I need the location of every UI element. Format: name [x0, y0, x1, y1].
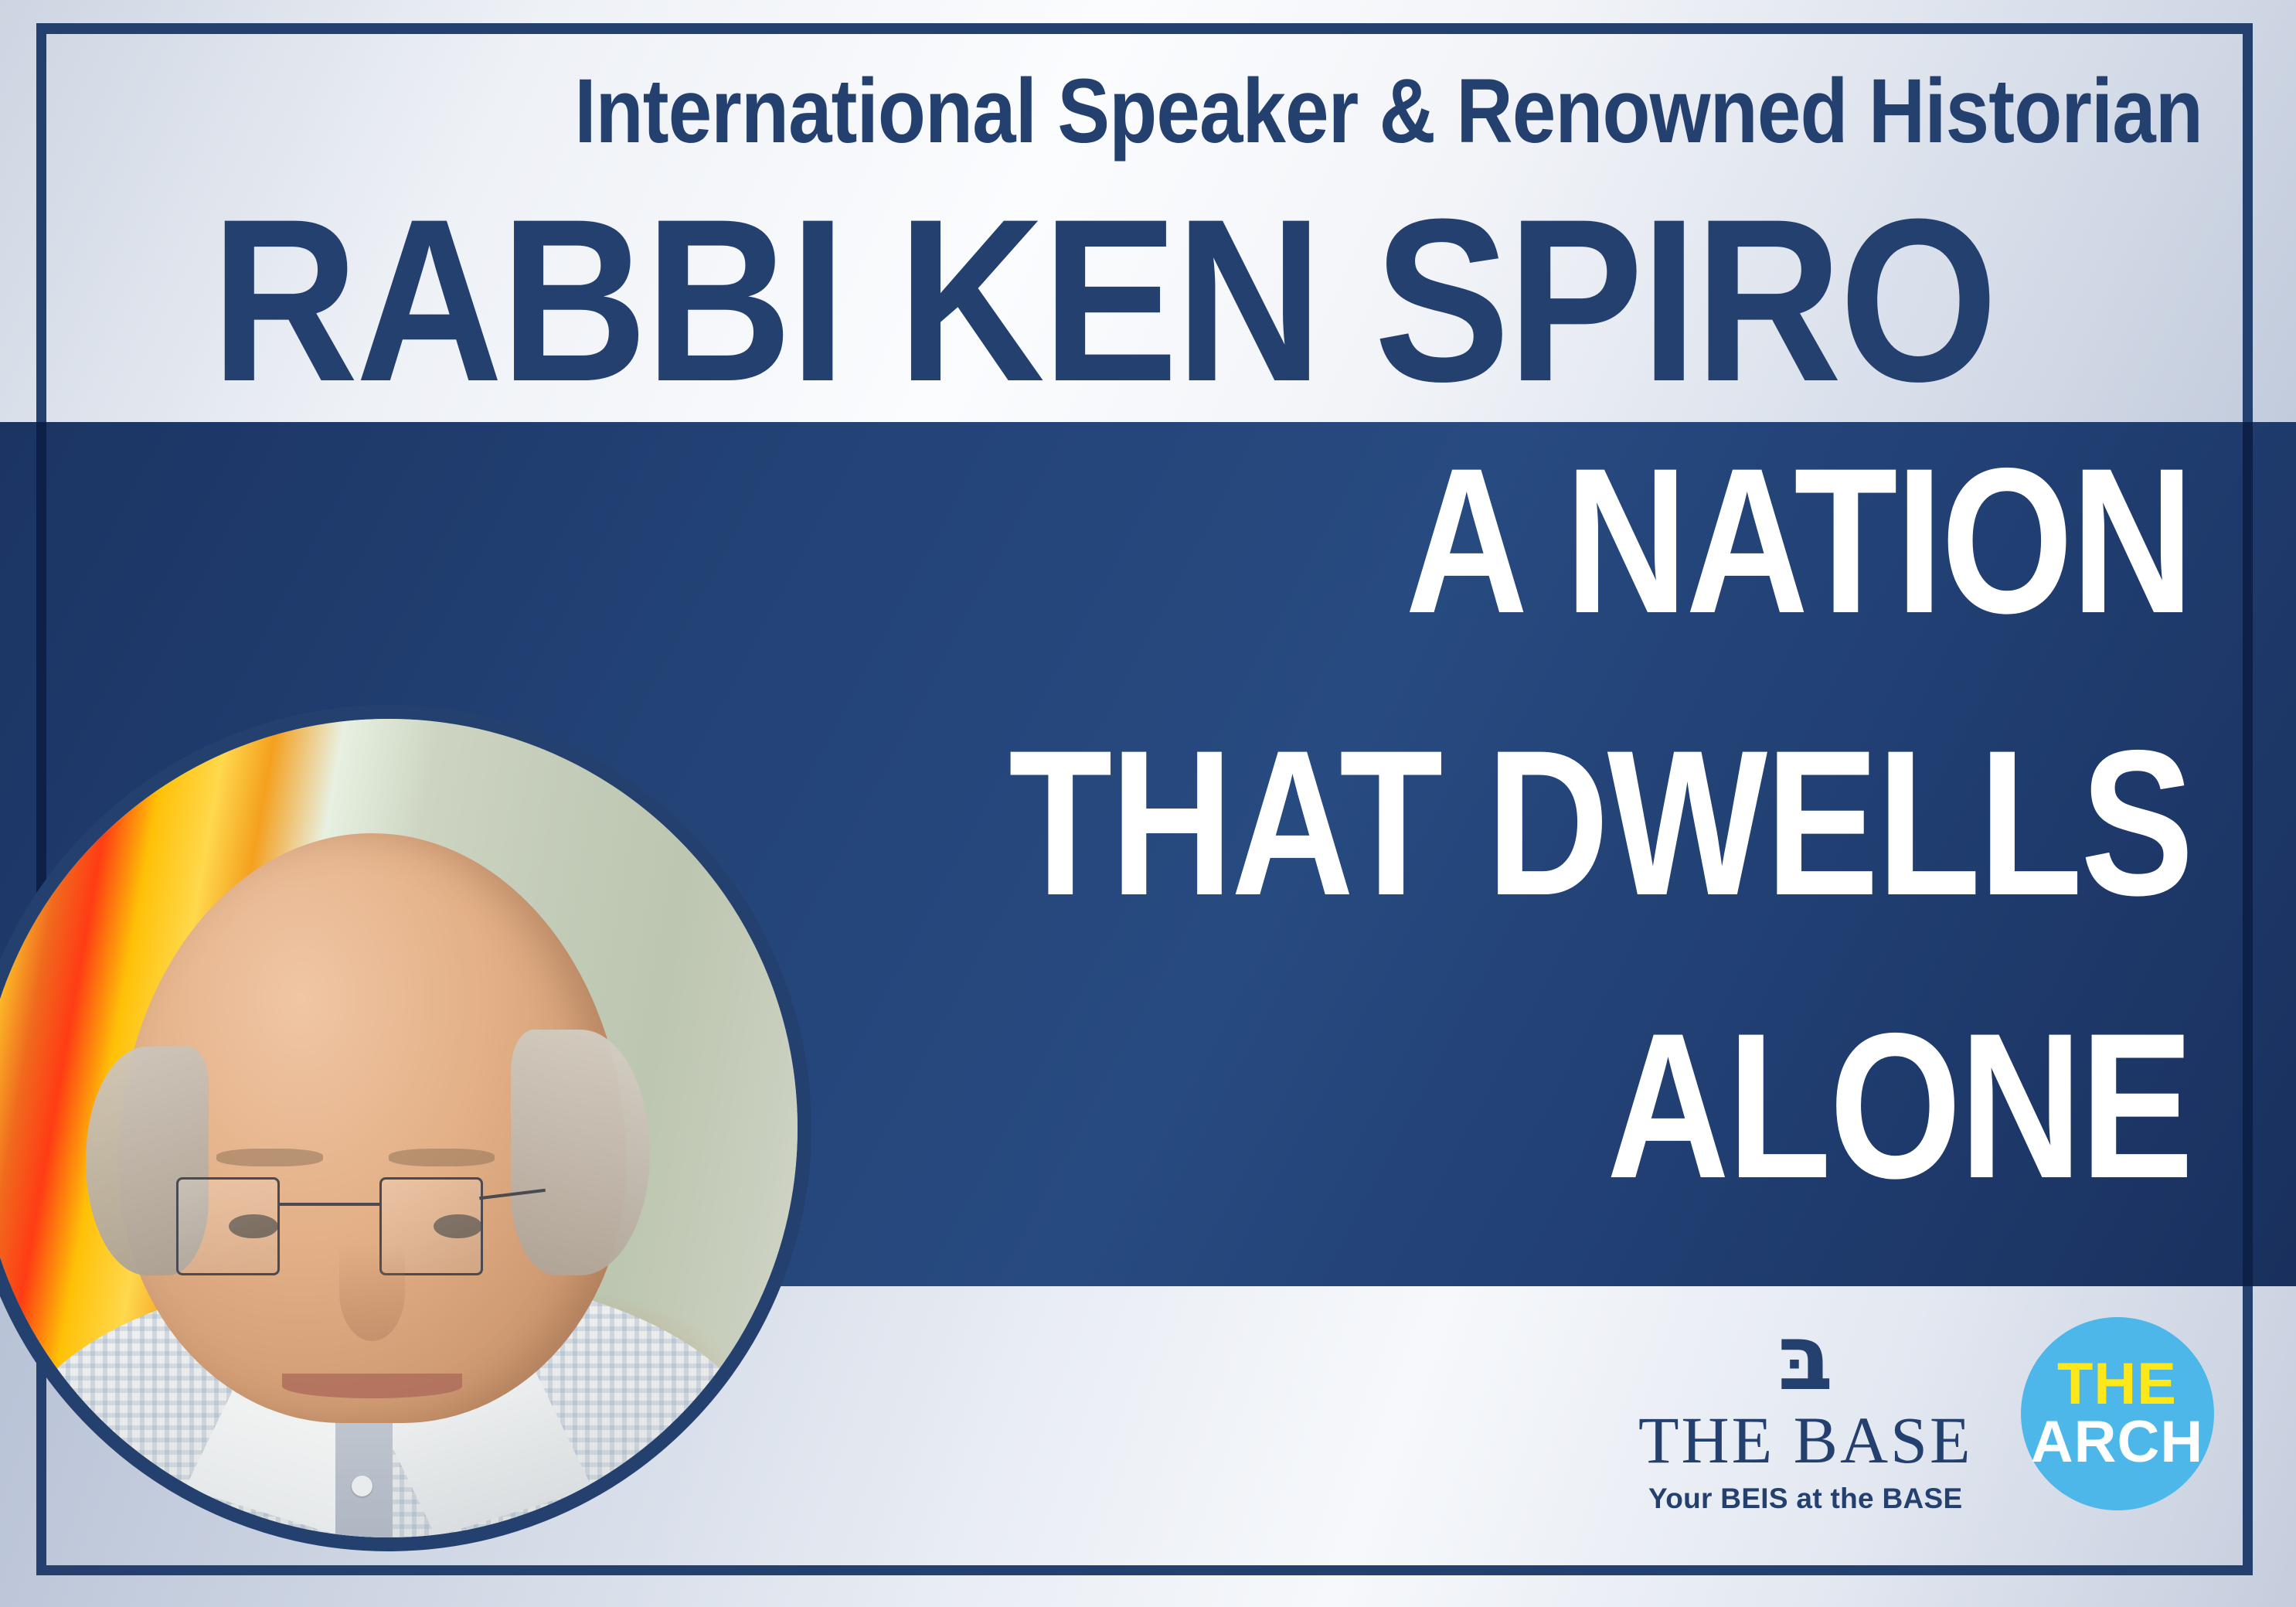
the-base-wordmark: THE BASE [1638, 1407, 1973, 1473]
title-line-2: THAT DWELLS [1009, 719, 2192, 926]
the-arch-line-1: THE [2057, 1357, 2177, 1413]
glasses-temple-arm [479, 1189, 546, 1200]
the-arch-line-2: ARCH [2031, 1415, 2204, 1471]
title-line-1: A NATION [1405, 437, 2192, 644]
portrait-mouth [282, 1374, 462, 1398]
the-arch-logo: THE ARCH [2021, 1317, 2214, 1510]
kicker-text: International Speaker & Renowned Histori… [308, 66, 2202, 157]
speaker-portrait-circle [0, 705, 811, 1551]
speaker-name: RABBI KEN SPIRO [132, 184, 2073, 416]
portrait-eyebrow-right [389, 1149, 495, 1166]
glasses-bridge [280, 1203, 379, 1206]
title-line-3: ALONE [1607, 1002, 2192, 1209]
the-base-logo: בּ THE BASE Your BEIS at the BASE [1638, 1314, 1973, 1513]
hebrew-bet-icon: בּ [1777, 1314, 1833, 1401]
frame-edge-right-dark [2243, 422, 2253, 1286]
glasses-lens-left [176, 1177, 280, 1275]
speaker-portrait-photo [0, 719, 798, 1537]
event-poster: International Speaker & Renowned Histori… [0, 0, 2296, 1607]
the-base-tagline: Your BEIS at the BASE [1648, 1484, 1963, 1513]
portrait-nose [339, 1243, 405, 1341]
portrait-eyebrow-left [216, 1149, 323, 1166]
sponsor-logos: בּ THE BASE Your BEIS at the BASE THE AR… [1638, 1314, 2214, 1513]
